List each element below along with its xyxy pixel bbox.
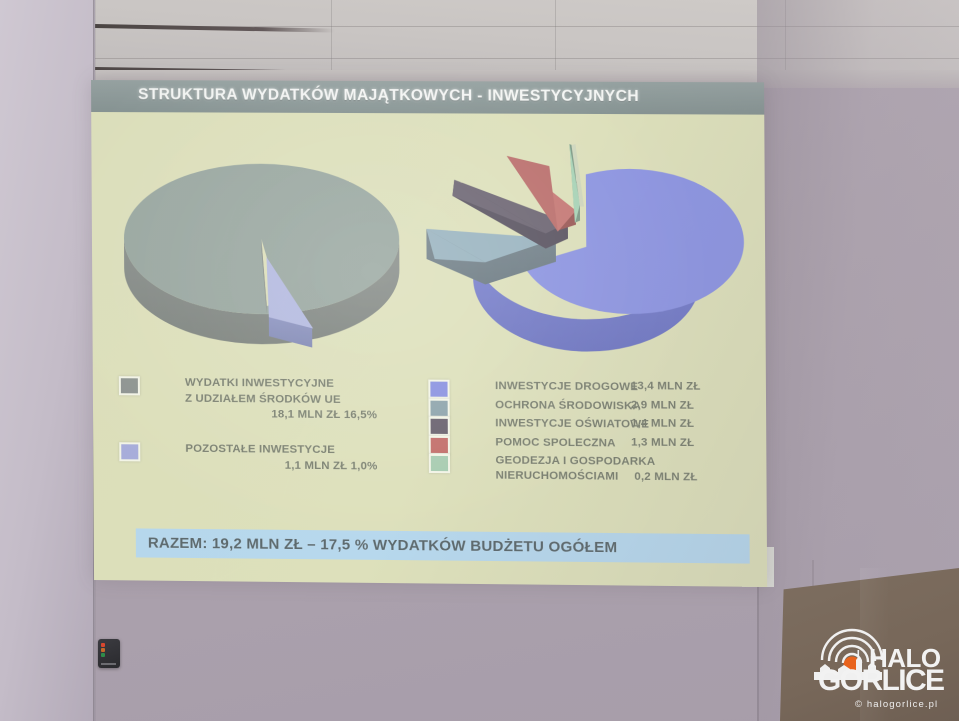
legend-left-item-0-value: 18,1 MLN ZŁ 16,5% (271, 408, 377, 421)
pie-left-svg (115, 130, 408, 362)
sensor-label-strip (101, 663, 116, 665)
legend-right-item-3-label: POMOC SPOLECZNA (495, 435, 615, 452)
summary-total-text: RAZEM: 19,2 MLN ZŁ – 17,5 % WYDATKÓW BUD… (136, 534, 618, 556)
slide-title: STRUKTURA WYDATKÓW MAJĄTKOWYCH - INWESTY… (138, 86, 639, 106)
charts-area (91, 112, 766, 397)
legend-right-item-2-label: INWESTYCJE OŚWIATOWE (495, 416, 649, 433)
legend-swatch-drogowe (428, 380, 449, 399)
legend-right-item-1-value: 2,9 MLN ZŁ (631, 399, 694, 412)
legend-left-item-0-label-line2: Z UDZIAŁEM ŚRODKÓW UE (185, 391, 420, 408)
sensor-led-amber (101, 648, 105, 652)
brown-panel-sheen (860, 568, 890, 721)
legend-left-item-1-value: 1,1 MLN ZŁ 1,0% (285, 459, 378, 472)
legend-right-item-4: GEODEZJA I GOSPODARKA NIERUCHOMOŚCIAMI 0… (429, 453, 733, 489)
legend-swatch-wydatki-ue (119, 376, 140, 395)
legend-left: WYDATKI INWESTYCYJNE Z UDZIAŁEM ŚRODKÓW … (119, 375, 421, 494)
legend-left-item-0-label-line1: WYDATKI INWESTYCYJNE (185, 376, 420, 393)
legend-right-item-4-label-line1: GEODEZJA I GOSPODARKA (495, 454, 655, 467)
legend-right-item-2: INWESTYCJE OŚWIATOWE 1,4 MLN ZŁ (429, 416, 733, 437)
legend-swatch-pomoc (429, 435, 450, 454)
legend-left-item-0: WYDATKI INWESTYCYJNE Z UDZIAŁEM ŚRODKÓW … (119, 375, 421, 421)
summary-total-box: RAZEM: 19,2 MLN ZŁ – 17,5 % WYDATKÓW BUD… (136, 528, 750, 563)
legend-right: INWESTYCJE DROGOWE 13,4 MLN ZŁ OCHRONA Ś… (428, 379, 733, 489)
legend-right-item-0: INWESTYCJE DROGOWE 13,4 MLN ZŁ (428, 379, 732, 400)
legend-right-item-3-value: 1,3 MLN ZŁ (631, 436, 694, 449)
legend-left-item-1-label-line1: POZOSTAŁE INWESTYCJE (185, 442, 420, 460)
projected-slide: STRUKTURA WYDATKÓW MAJĄTKOWYCH - INWESTY… (91, 80, 767, 587)
pie-right-svg (416, 125, 762, 369)
wall-left-panel (0, 0, 95, 721)
sensor-led-red (101, 643, 105, 647)
legend-right-item-4-label-line2: NIERUCHOMOŚCIAMI (496, 470, 619, 483)
pie-chart-main-split (115, 130, 408, 362)
legend-right-item-4-value: 0,2 MLN ZŁ (634, 471, 697, 484)
wall-mounted-sensor-device[interactable] (98, 639, 120, 668)
legend-swatch-geodezja (429, 454, 450, 473)
legend-swatch-pozostale (119, 442, 140, 461)
legend-right-item-1: OCHRONA ŚRODOWISKA 2,9 MLN ZŁ (428, 397, 732, 418)
pie-chart-investment-types (416, 125, 762, 369)
legend-right-item-1-label: OCHRONA ŚRODOWISKA (495, 398, 641, 415)
legend-right-item-0-value: 13,4 MLN ZŁ (631, 380, 701, 393)
legend-swatch-ochrona (428, 398, 449, 417)
sensor-led-green (101, 653, 105, 657)
legend-right-item-2-value: 1,4 MLN ZŁ (631, 417, 694, 430)
legend-left-item-1: POZOSTAŁE INWESTYCJE 1,1 MLN ZŁ 1,0% (119, 441, 421, 472)
legend-swatch-oswiatowe (429, 417, 450, 436)
legend-right-item-0-label: INWESTYCJE DROGOWE (495, 379, 638, 396)
